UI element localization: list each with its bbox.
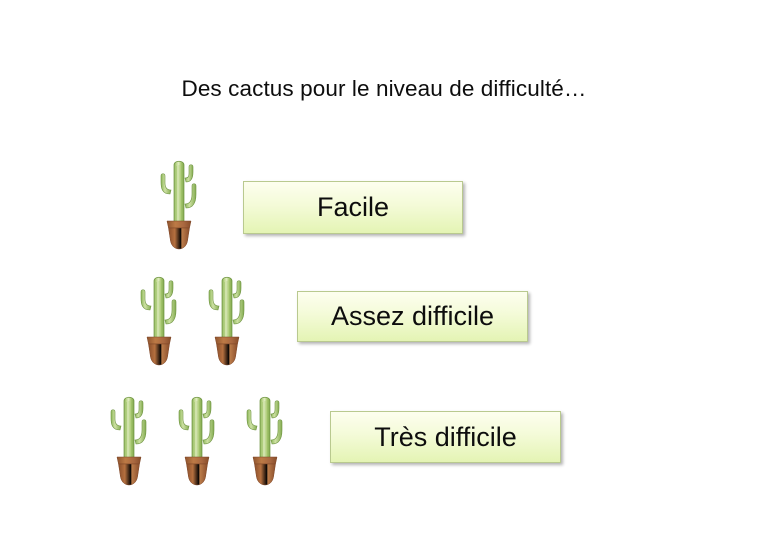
cactus-icon: [198, 268, 256, 368]
cactus-group-assez-difficile: [130, 268, 256, 368]
difficulty-label-assez-difficile[interactable]: Assez difficile: [297, 291, 528, 342]
difficulty-row-tres-difficile: [100, 388, 294, 488]
cactus-icon: [236, 388, 294, 488]
difficulty-row-assez-difficile: [130, 268, 256, 368]
difficulty-row-facile: [150, 152, 208, 252]
cactus-icon: [100, 388, 158, 488]
difficulty-label-facile[interactable]: Facile: [243, 181, 463, 234]
page-title: Des cactus pour le niveau de difficulté…: [0, 76, 768, 102]
difficulty-label-tres-difficile[interactable]: Très difficile: [330, 411, 561, 463]
cactus-icon: [130, 268, 188, 368]
cactus-icon: [168, 388, 226, 488]
slide-canvas: Des cactus pour le niveau de difficulté…: [0, 0, 768, 543]
cactus-icon: [150, 152, 208, 252]
cactus-group-tres-difficile: [100, 388, 294, 488]
cactus-group-facile: [150, 152, 208, 252]
